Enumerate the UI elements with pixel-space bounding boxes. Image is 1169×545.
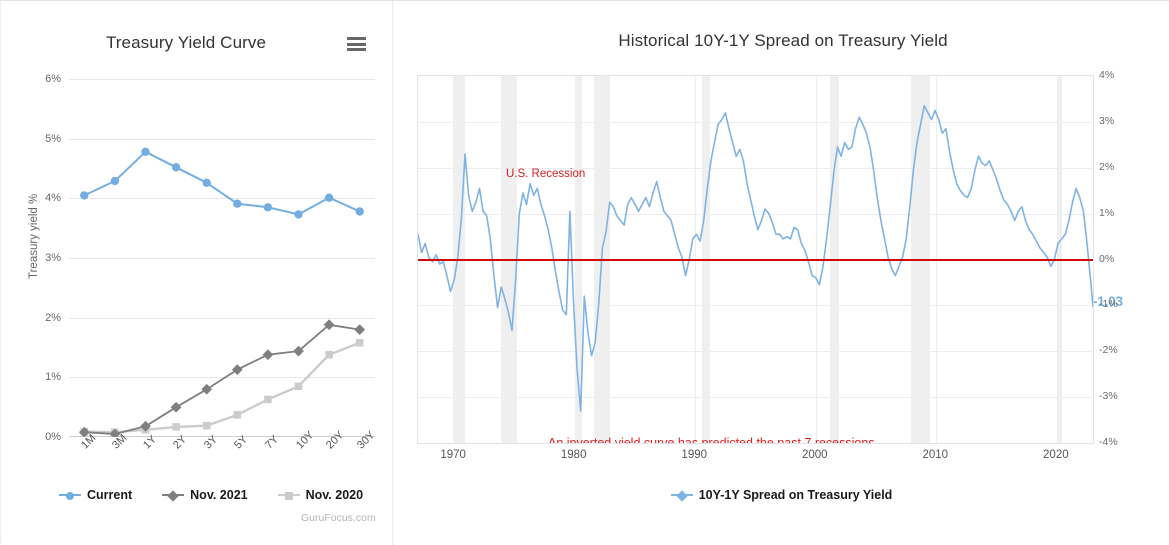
plot-area-right: U.S. Recession An inverted yield curve h…: [417, 75, 1094, 444]
x-axis-tick-right: 2020: [1043, 449, 1069, 461]
y-axis-tick-left: 6%: [45, 73, 61, 85]
y-axis-tick-left: 4%: [45, 192, 61, 204]
legend-marker-icon: [278, 490, 300, 500]
y-axis-tick-right: -2%: [1099, 344, 1118, 356]
legend-left: CurrentNov. 2021Nov. 2020: [59, 488, 363, 502]
x-axis-tick-right: 2010: [923, 449, 949, 461]
y-axis-tick-left: 5%: [45, 133, 61, 145]
legend-label: Nov. 2020: [306, 488, 363, 502]
y-axis-tick-right: 0%: [1099, 253, 1114, 265]
watermark-left: GuruFocus.com: [301, 512, 376, 524]
legend-item[interactable]: Nov. 2020: [278, 488, 363, 502]
annotation-inverted-yield-curve: An inverted yield curve has predicted th…: [548, 436, 875, 444]
x-axis-tick-right: 1980: [561, 449, 587, 461]
legend-item[interactable]: 10Y-1Y Spread on Treasury Yield: [671, 488, 893, 502]
y-axis-tick-right: 1%: [1099, 207, 1114, 219]
historical-spread-panel: Historical 10Y-1Y Spread on Treasury Yie…: [393, 1, 1169, 545]
y-axis-tick-right: -3%: [1099, 390, 1118, 402]
treasury-yield-curve-panel: Treasury Yield Curve Treasury yield % 0%…: [1, 1, 393, 545]
legend-marker-icon: [59, 490, 81, 500]
y-axis-tick-right: 2%: [1099, 161, 1114, 173]
legend-label: Current: [87, 488, 132, 502]
y-axis-tick-left: 1%: [45, 371, 61, 383]
annotation-us-recession: U.S. Recession: [506, 168, 585, 180]
zero-reference-line: [418, 259, 1093, 262]
dashboard-root: Treasury Yield Curve Treasury yield % 0%…: [0, 0, 1169, 544]
legend-item[interactable]: Current: [59, 488, 132, 502]
y-axis-label-left: Treasury yield %: [28, 194, 40, 279]
legend-marker-icon: [671, 490, 693, 500]
page-title-right: Historical 10Y-1Y Spread on Treasury Yie…: [433, 31, 1133, 51]
y-axis-tick-left: 0%: [45, 431, 61, 443]
y-axis-tick-left: 2%: [45, 312, 61, 324]
legend-item[interactable]: Nov. 2021: [162, 488, 247, 502]
x-axis-tick-right: 2000: [802, 449, 828, 461]
legend-label: Nov. 2021: [190, 488, 247, 502]
y-axis-tick-left: 3%: [45, 252, 61, 264]
line-series-group-left: [69, 79, 375, 437]
legend-right: 10Y-1Y Spread on Treasury Yield: [393, 488, 1169, 502]
x-axis-tick-right: 1970: [440, 449, 466, 461]
y-axis-tick-right: 3%: [1099, 115, 1114, 127]
y-axis-tick-right: 4%: [1099, 69, 1114, 81]
page-title-left: Treasury Yield Curve: [31, 33, 341, 53]
y-axis-tick-right: -1%: [1099, 298, 1118, 310]
x-axis-tick-right: 1990: [681, 449, 707, 461]
hamburger-icon[interactable]: [347, 37, 366, 51]
y-axis-tick-right: -4%: [1099, 436, 1118, 448]
legend-marker-icon: [162, 490, 184, 500]
legend-label: 10Y-1Y Spread on Treasury Yield: [699, 488, 893, 502]
